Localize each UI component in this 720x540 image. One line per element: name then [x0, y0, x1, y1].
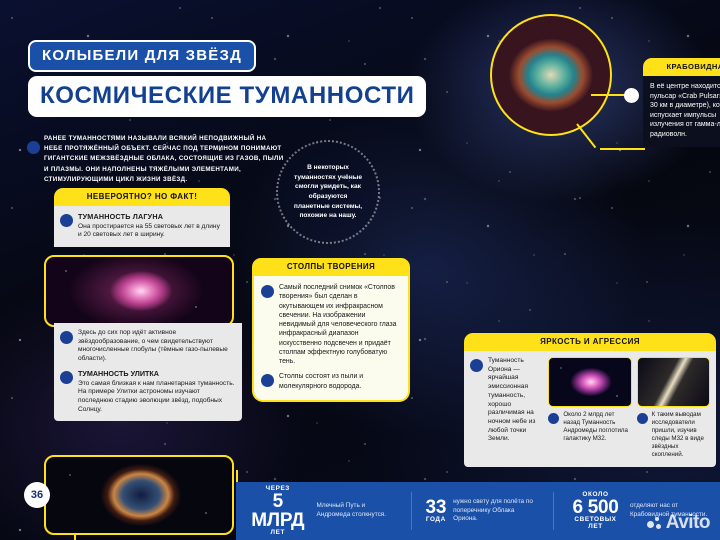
panel-brightness-body: Туманность Ориона — ярчайшая эмиссионная… — [464, 351, 716, 467]
panel-crab-heading: КРАБОВИДНАЯ — [643, 58, 720, 76]
panel-incredible-fact-heading: НЕВЕРОЯТНО? НО ФАКТ! — [54, 188, 230, 206]
stat-3-suffix: СВЕТОВЫХ ЛЕТ — [568, 517, 623, 530]
stat-1-text: Млечный Путь и Андромеда столкнутся. — [317, 502, 397, 520]
bullet-dot-icon — [261, 285, 274, 298]
stat-3-value: 6 500 — [568, 498, 623, 517]
divider — [411, 492, 412, 530]
avito-watermark: Avito — [647, 512, 710, 534]
stat-1-value: 5 МЛРД — [246, 492, 310, 530]
pillars-bullet-2: Столпы состоят из пыли и молекулярного в… — [279, 372, 401, 391]
m32-text: К таким выводам исследователи пришли, из… — [652, 411, 710, 459]
lagoon-item-title: ТУМАННОСТЬ ЛАГУНА — [78, 212, 163, 221]
panel-pillars-of-creation: СТОЛПЫ ТВОРЕНИЯ Самый последний снимок «… — [252, 258, 410, 402]
stat-2-suffix: ГОДА — [426, 517, 447, 523]
bullet-dot-icon — [261, 374, 274, 387]
intro-paragraph: РАНЕЕ ТУМАННОСТЯМИ НАЗЫВАЛИ ВСЯКИЙ НЕПОД… — [44, 134, 284, 185]
page-number: 36 — [24, 482, 50, 508]
panel-brightness-heading: ЯРКОСТЬ И АГРЕССИЯ — [464, 333, 716, 351]
helix-nebula-image — [44, 455, 234, 535]
lagoon-nebula-image — [44, 255, 234, 327]
panel-pillars-body: Самый последний снимок «Столпов творения… — [252, 276, 410, 402]
intro-bullet-icon — [27, 141, 40, 154]
panel-crab-nebula: КРАБОВИДНАЯ В её центре находится пульса… — [643, 58, 720, 147]
circular-callout: В некоторых туманностях учёные смогли ув… — [276, 140, 380, 244]
avito-dots-icon — [647, 517, 663, 530]
orion-nebula-thumbnail — [548, 357, 631, 407]
bullet-dot-icon — [548, 413, 559, 424]
bullet-dot-icon — [60, 371, 73, 384]
avito-wordmark: Avito — [666, 512, 710, 534]
stat-item-1: ЧЕРЕЗ 5 МЛРД ЛЕТ Млечный Путь и Андромед… — [246, 486, 397, 537]
lagoon-note2-text: Здесь до сих пор идёт активное звёздообр… — [78, 329, 236, 364]
panel-incredible-fact-body: ТУМАННОСТЬ ЛАГУНА Она простирается на 55… — [54, 206, 230, 247]
panel-crab-text: В её центре находится пульсар «Crab Puls… — [643, 76, 720, 147]
panel-pillars-heading: СТОЛПЫ ТВОРЕНИЯ — [252, 258, 410, 276]
crab-marker-dot-icon — [624, 88, 639, 103]
crab-leader-line — [591, 94, 627, 96]
stat-item-2: 33 ГОДА нужно свету для полёта по попере… — [426, 498, 540, 525]
stat-2-value: 33 — [426, 498, 447, 517]
leader-line-horizontal — [600, 148, 645, 150]
helix-item-text: Это самая близкая к нам планетарная тума… — [78, 380, 235, 413]
andromeda-galaxy-thumbnail — [637, 357, 710, 407]
crab-nebula-image — [490, 14, 612, 136]
orion-text: Туманность Ориона — ярчайшая эмиссионная… — [488, 357, 543, 444]
panel-incredible-fact-continued: Здесь до сих пор идёт активное звёздообр… — [54, 323, 242, 421]
page-kicker: КОЛЫБЕЛИ ДЛЯ ЗВЁЗД — [28, 40, 256, 72]
pillars-bullet-1: Самый последний снимок «Столпов творения… — [279, 283, 401, 366]
stat-2-text: нужно свету для полёта по поперечнику Об… — [453, 498, 539, 525]
bullet-dot-icon — [60, 214, 73, 227]
bullet-dot-icon — [637, 413, 648, 424]
helix-item-title: ТУМАННОСТЬ УЛИТКА — [78, 369, 159, 378]
page-title: КОСМИЧЕСКИЕ ТУМАННОСТИ — [28, 76, 426, 117]
andromeda-text: Около 2 млрд лет назад Туманность Андром… — [563, 411, 631, 443]
panel-incredible-fact: НЕВЕРОЯТНО? НО ФАКТ! ТУМАННОСТЬ ЛАГУНА О… — [54, 188, 230, 247]
lagoon-item-text: Она простирается на 55 световых лет в дл… — [78, 223, 220, 239]
magazine-spread: КОЛЫБЕЛИ ДЛЯ ЗВЁЗД КОСМИЧЕСКИЕ ТУМАННОСТ… — [0, 0, 720, 540]
header: КОЛЫБЕЛИ ДЛЯ ЗВЁЗД КОСМИЧЕСКИЕ ТУМАННОСТ… — [28, 40, 346, 117]
panel-brightness-aggression: ЯРКОСТЬ И АГРЕССИЯ Туманность Ориона — я… — [464, 333, 716, 467]
bullet-dot-icon — [60, 331, 73, 344]
bullet-dot-icon — [470, 359, 483, 372]
divider — [553, 492, 554, 530]
